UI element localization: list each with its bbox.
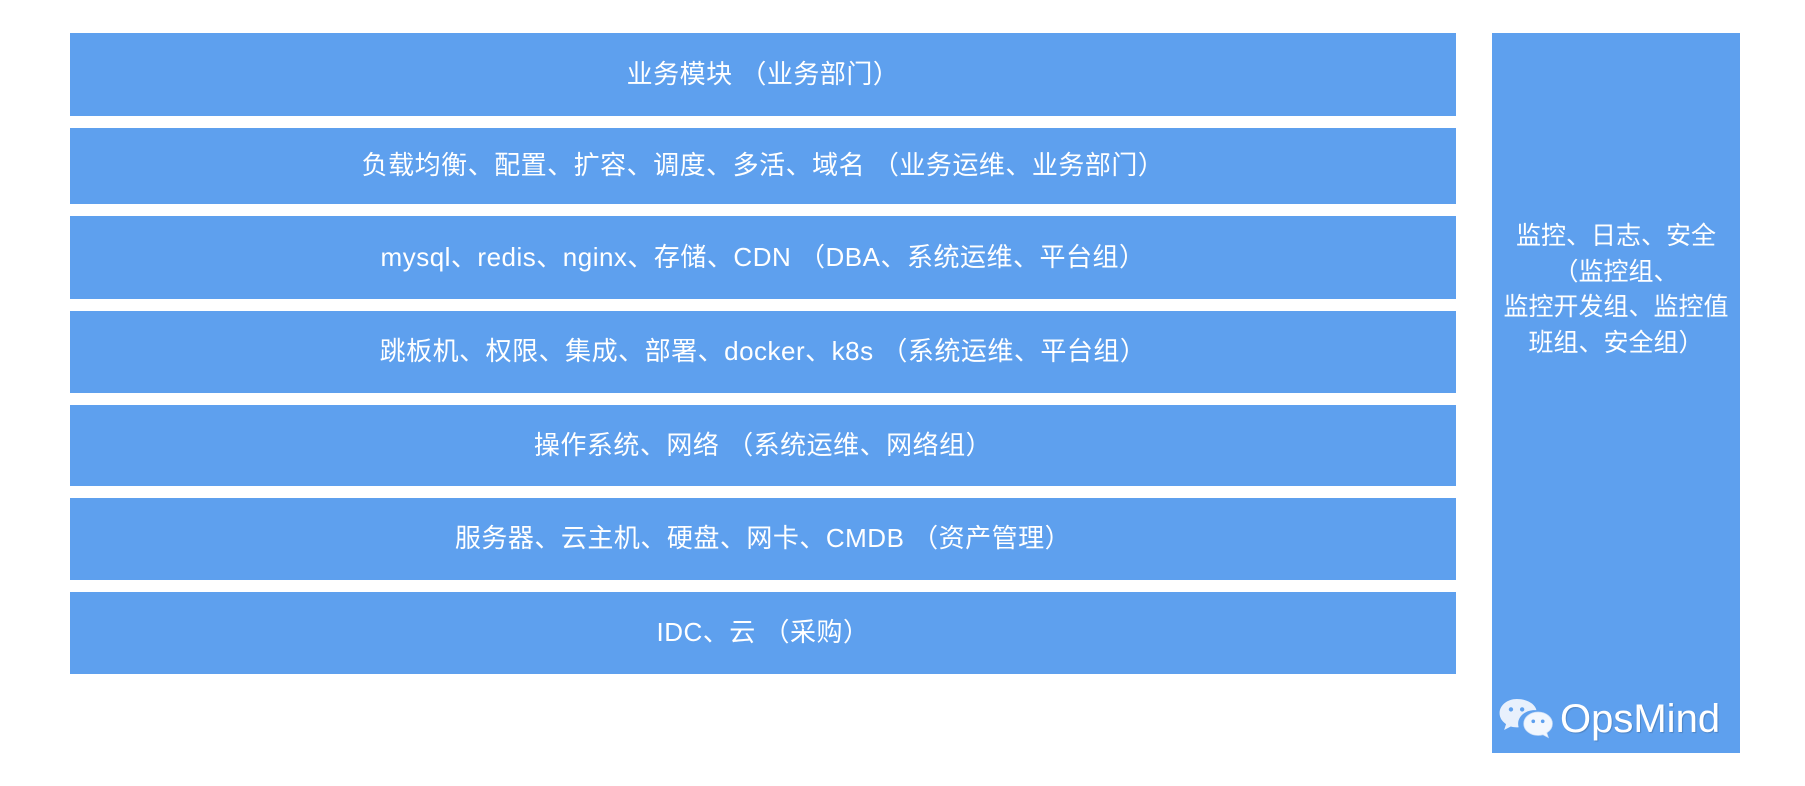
layer-row-platform-tooling[interactable]: 跳板机、权限、集成、部署、docker、k8s （系统运维、平台组）	[70, 311, 1456, 393]
layer-row-business-module[interactable]: 业务模块 （业务部门）	[70, 33, 1456, 116]
layer-divider	[70, 486, 1456, 498]
stack-diagram: 业务模块 （业务部门） 负载均衡、配置、扩容、调度、多活、域名 （业务运维、业务…	[0, 0, 1805, 786]
layer-row-os-network[interactable]: 操作系统、网络 （系统运维、网络组）	[70, 405, 1456, 486]
brand-logo: OpsMind	[1498, 697, 1720, 741]
layer-divider	[70, 393, 1456, 405]
layer-row-business-ops[interactable]: 负载均衡、配置、扩容、调度、多活、域名 （业务运维、业务部门）	[70, 128, 1456, 204]
sidebar-panel-label: 监控、日志、安全 （监控组、 监控开发组、监控值班组、安全组）	[1492, 219, 1740, 361]
wechat-icon	[1498, 697, 1554, 741]
layer-divider	[70, 204, 1456, 216]
layer-row-hardware-assets[interactable]: 服务器、云主机、硬盘、网卡、CMDB （资产管理）	[70, 498, 1456, 580]
layer-divider	[70, 299, 1456, 311]
brand-name: OpsMind	[1560, 699, 1720, 739]
sidebar-panel-monitoring-security[interactable]: 监控、日志、安全 （监控组、 监控开发组、监控值班组、安全组） OpsMind	[1492, 33, 1740, 753]
layer-row-idc-cloud[interactable]: IDC、云 （采购）	[70, 592, 1456, 674]
layer-row-middleware[interactable]: mysql、redis、nginx、存储、CDN （DBA、系统运维、平台组）	[70, 216, 1456, 299]
layer-divider	[70, 580, 1456, 592]
layer-divider	[70, 116, 1456, 128]
layer-stack: 业务模块 （业务部门） 负载均衡、配置、扩容、调度、多活、域名 （业务运维、业务…	[70, 33, 1456, 753]
